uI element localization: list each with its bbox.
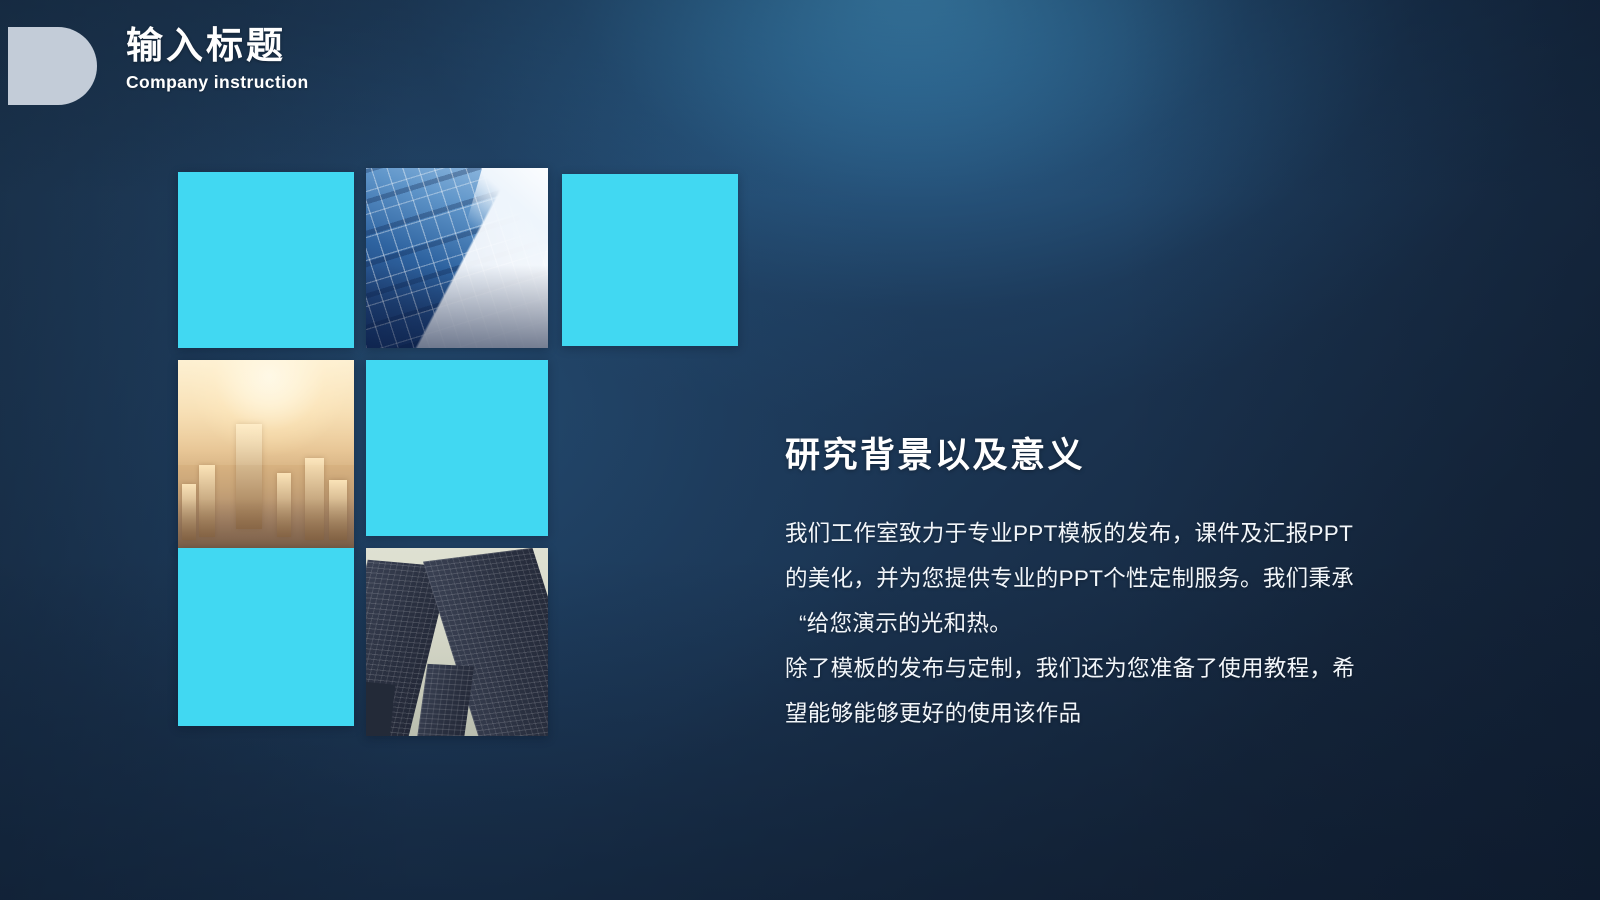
paragraph-line: 的美化，并为您提供专业的PPT个性定制服务。我们秉承 xyxy=(785,556,1465,601)
sky-highlight xyxy=(459,168,548,271)
skyscrapers-upward-image xyxy=(366,548,548,736)
paragraph-line: 望能够能够更好的使用该作品 xyxy=(785,691,1465,736)
sunrise-city-aerial-image xyxy=(178,360,354,548)
sun-haze xyxy=(178,360,354,465)
ground-shade xyxy=(178,499,354,548)
paragraph-line: “给您演示的光和热。 xyxy=(785,601,1465,646)
mosaic-tile-placeholder-swatch[interactable] xyxy=(178,172,354,348)
paragraph-line: 我们工作室致力于专业PPT模板的发布，课件及汇报PPT xyxy=(785,511,1465,556)
building-shape xyxy=(366,682,395,736)
mosaic-tile-glass-office-facade-photo[interactable] xyxy=(366,168,548,348)
mosaic-tile-sunrise-city-aerial-photo[interactable] xyxy=(178,360,354,548)
paragraph-line: 除了模板的发布与定制，我们还为您准备了使用教程，希 xyxy=(785,646,1465,691)
glass-office-facade-image xyxy=(366,168,548,348)
content-block: 研究背景以及意义 我们工作室致力于专业PPT模板的发布，课件及汇报PPT 的美化… xyxy=(785,435,1465,736)
mosaic-tile-skyscrapers-upward-photo[interactable] xyxy=(366,548,548,736)
mosaic-tile-placeholder-swatch[interactable] xyxy=(562,174,738,346)
presentation-slide: 输入标题 Company instruction xyxy=(0,0,1600,900)
mosaic-tile-placeholder-swatch[interactable] xyxy=(178,548,354,726)
mosaic-tile-placeholder-swatch[interactable] xyxy=(366,360,548,536)
content-paragraph: 我们工作室致力于专业PPT模板的发布，课件及汇报PPT 的美化，并为您提供专业的… xyxy=(785,511,1465,736)
content-heading: 研究背景以及意义 xyxy=(785,435,1465,477)
lower-shadow xyxy=(366,265,548,348)
